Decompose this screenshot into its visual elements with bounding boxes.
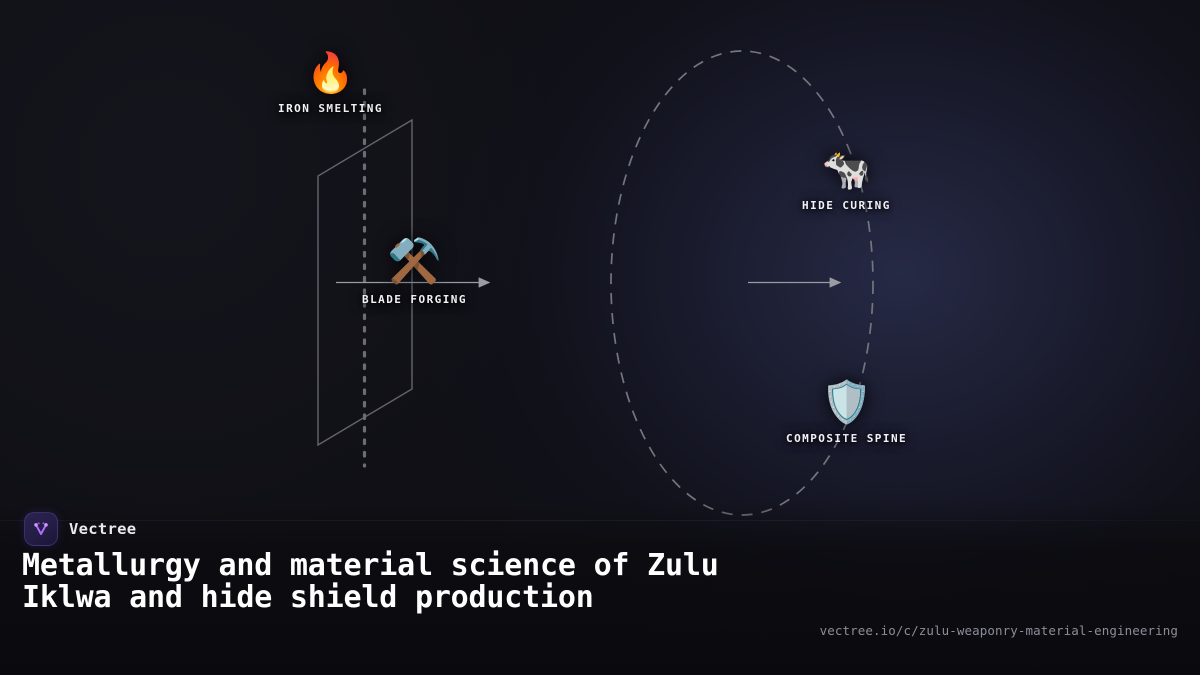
- vectree-v-logo-icon: [24, 512, 58, 546]
- fire-icon: 🔥: [306, 54, 355, 93]
- node-blade-forging[interactable]: ⚒️ BLADE FORGING: [362, 240, 467, 306]
- footer: Vectree Metallurgy and material science …: [0, 500, 1200, 675]
- node-label-hide-curing: HIDE CURING: [802, 199, 891, 212]
- cow-icon: 🐄: [822, 150, 872, 190]
- brand-name: Vectree: [69, 520, 136, 538]
- hammer-and-pick-icon: ⚒️: [387, 240, 442, 284]
- node-composite-spine[interactable]: 🛡️ COMPOSITE SPINE: [786, 382, 907, 445]
- shield-icon: 🛡️: [821, 382, 872, 423]
- node-hide-curing[interactable]: 🐄 HIDE CURING: [802, 150, 891, 212]
- brand[interactable]: Vectree: [24, 512, 136, 546]
- site-url: vectree.io/c/zulu-weaponry-material-engi…: [820, 623, 1178, 638]
- diagram-canvas: 🔥 IRON SMELTING ⚒️ BLADE FORGING 🐄 HIDE …: [0, 0, 1200, 675]
- node-label-blade-forging: BLADE FORGING: [362, 293, 467, 306]
- node-label-iron-smelting: IRON SMELTING: [278, 102, 383, 115]
- page-title: Metallurgy and material science of Zulu …: [22, 550, 812, 614]
- node-label-composite-spine: COMPOSITE SPINE: [786, 432, 907, 445]
- logo-glyph: [31, 519, 51, 539]
- node-iron-smelting[interactable]: 🔥 IRON SMELTING: [278, 54, 383, 115]
